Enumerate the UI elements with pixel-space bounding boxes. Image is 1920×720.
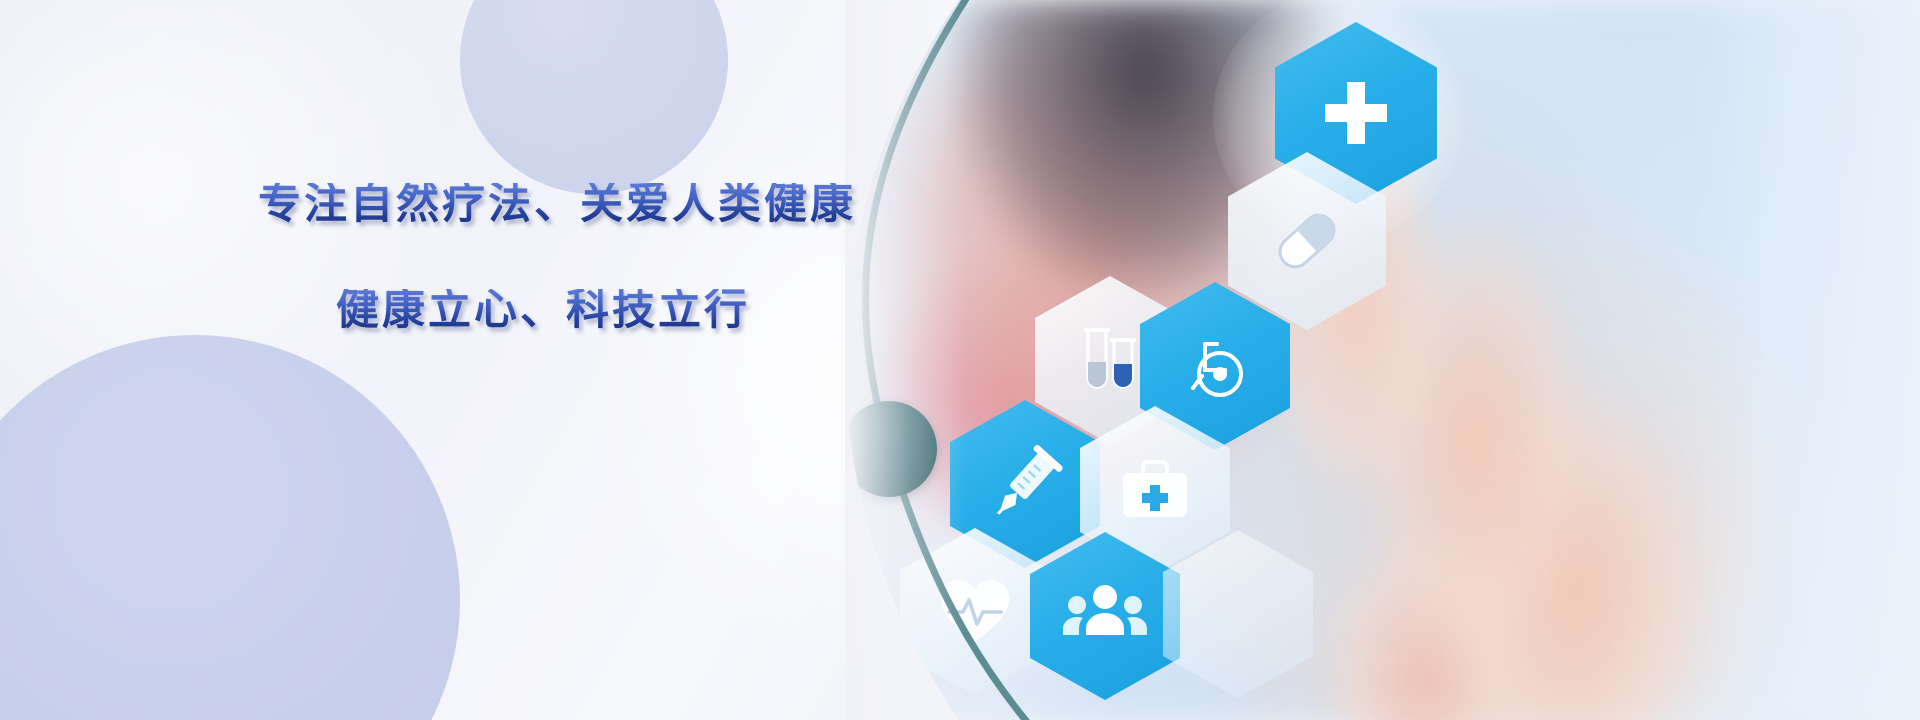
photo-panel bbox=[845, 0, 1920, 720]
headline-line-2: 健康立心、科技立行 bbox=[336, 289, 898, 332]
decorative-circle-top bbox=[460, 0, 728, 194]
panel-left-edge-fade bbox=[845, 0, 965, 720]
headline-block: 专注自然疗法、关爱人类健康 健康立心、科技立行 bbox=[258, 183, 898, 332]
hero-banner: 专注自然疗法、关爱人类健康 健康立心、科技立行 bbox=[0, 0, 1920, 720]
headline-line-1: 专注自然疗法、关爱人类健康 bbox=[258, 183, 898, 226]
right-edge-fade bbox=[1690, 0, 1920, 720]
